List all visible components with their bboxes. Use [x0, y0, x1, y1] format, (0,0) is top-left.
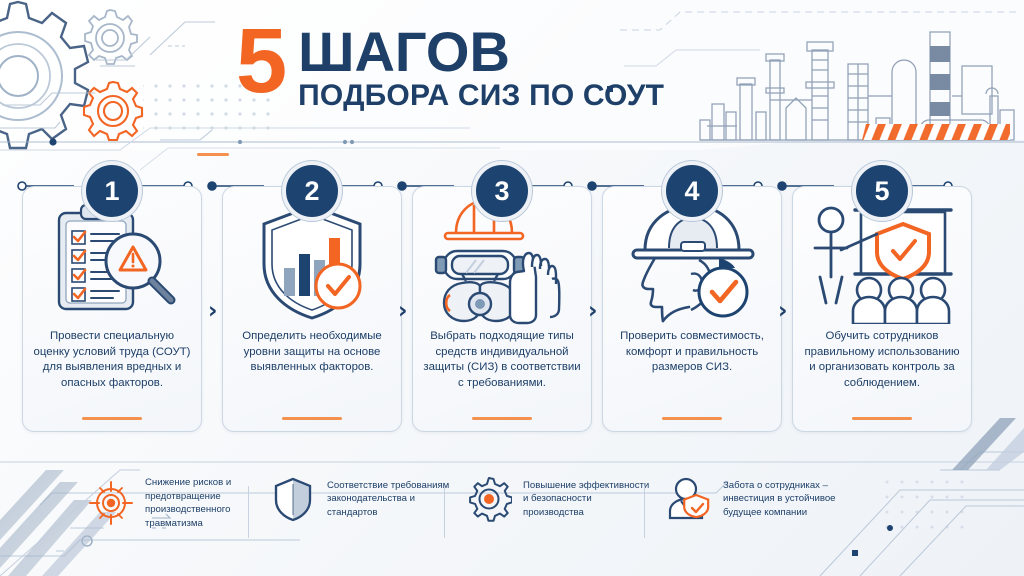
benefit-text-4: Забота о сотрудниках – инвестиция в усто…	[723, 479, 855, 520]
person-shield-check-icon	[666, 476, 712, 522]
step-separator-1: ›	[208, 298, 217, 324]
step-card-2[interactable]: 2 Определить необходимые уровни защиты н…	[222, 186, 402, 432]
page-subtitle: ПОДБОРА СИЗ ПО СОУТ	[298, 80, 664, 112]
steps-row: 1	[0, 160, 1024, 452]
step-number-badge-5: 5	[852, 161, 912, 221]
page-title: ШАГОВ	[298, 26, 664, 78]
step-card-5[interactable]: 5	[792, 186, 972, 432]
title-block: 5 ШАГОВ ПОДБОРА СИЗ ПО СОУТ	[236, 22, 664, 111]
step-rule-3	[472, 417, 532, 420]
benefit-text-2: Соответствие требованиям законодательств…	[327, 479, 459, 520]
step-separator-3: ›	[588, 298, 597, 324]
benefit-item-4[interactable]: Забота о сотрудниках – инвестиция в усто…	[666, 476, 855, 522]
step-text-4: Проверить совместимость, комфорт и прави…	[612, 327, 772, 417]
step-separator-4: ›	[778, 298, 787, 324]
step-card-4[interactable]: 4 Провер	[602, 186, 782, 432]
step-number-badge-1: 1	[82, 161, 142, 221]
header: 5 ШАГОВ ПОДБОРА СИЗ ПО СОУТ	[0, 0, 1024, 142]
benefit-text-3: Повышение эффективности и безопасности п…	[523, 479, 655, 520]
target-crosshair-icon	[88, 480, 134, 526]
gear-dot-icon	[466, 476, 512, 522]
benefit-divider-1	[248, 486, 249, 538]
step-card-1[interactable]: 1	[22, 186, 202, 432]
step-number-badge-2: 2	[282, 161, 342, 221]
step-text-5: Обучить сотрудников правильному использо…	[802, 327, 962, 417]
step-card-3[interactable]: 3	[412, 186, 592, 432]
step-number-badge-4: 4	[662, 161, 722, 221]
benefit-item-2[interactable]: Соответствие требованиям законодательств…	[270, 476, 459, 522]
step-text-3: Выбрать подходящие типы средств индивиду…	[422, 327, 582, 417]
step-rule-5	[852, 417, 912, 420]
benefits-row: Снижение рисков и предотвращение произво…	[0, 462, 1024, 560]
step-rule-2	[282, 417, 342, 420]
benefit-item-3[interactable]: Повышение эффективности и безопасности п…	[466, 476, 655, 522]
benefit-divider-3	[644, 486, 645, 538]
shield-icon	[270, 476, 316, 522]
step-rule-1	[82, 417, 142, 420]
benefit-divider-2	[444, 486, 445, 538]
benefit-text-1: Снижение рисков и предотвращение произво…	[145, 476, 277, 530]
infographic-poster: 5 ШАГОВ ПОДБОРА СИЗ ПО СОУТ	[0, 0, 1024, 576]
step-text-2: Определить необходимые уровни защиты на …	[232, 327, 392, 417]
big-number: 5	[236, 22, 284, 101]
step-separator-2: ›	[398, 298, 407, 324]
step-number-badge-3: 3	[472, 161, 532, 221]
step-rule-4	[662, 417, 722, 420]
step-text-1: Провести специальную оценку условий труд…	[32, 327, 192, 417]
